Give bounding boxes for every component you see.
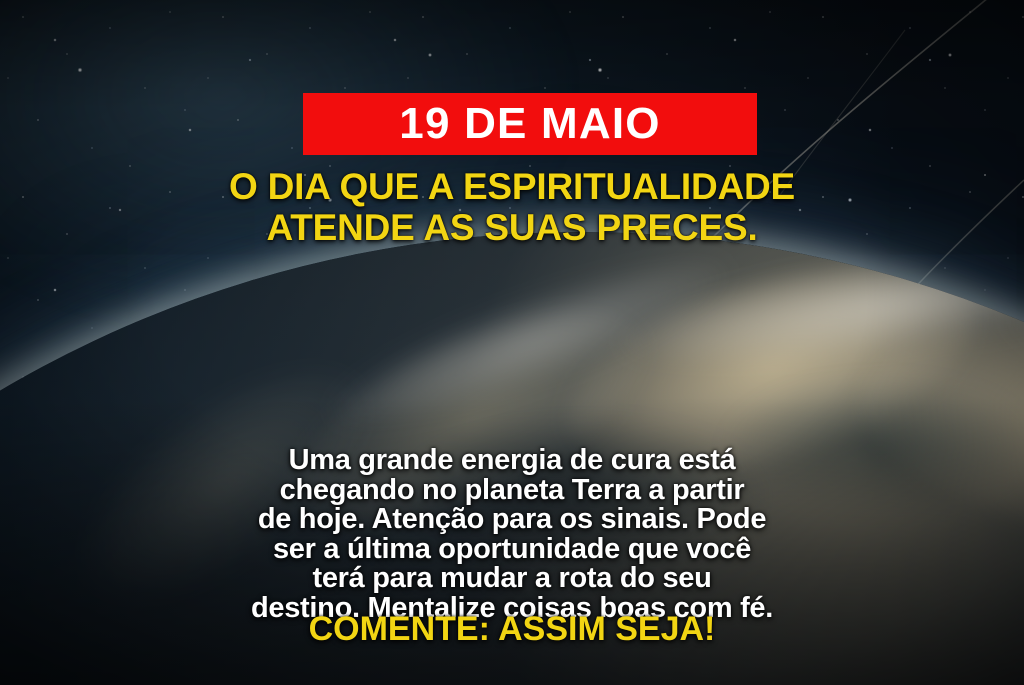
date-banner: 19 DE MAIO bbox=[303, 93, 757, 155]
body-line-4: ser a última oportunidade que você bbox=[44, 535, 980, 565]
date-banner-text: 19 DE MAIO bbox=[399, 102, 660, 146]
headline-line-1: O DIA QUE A ESPIRITUALIDADE bbox=[28, 166, 996, 207]
body-line-3: de hoje. Atenção para os sinais. Pode bbox=[44, 505, 980, 535]
body-line-1: Uma grande energia de cura está bbox=[44, 446, 980, 476]
headline: O DIA QUE A ESPIRITUALIDADE ATENDE AS SU… bbox=[0, 166, 1024, 249]
body-paragraph: Uma grande energia de cura está chegando… bbox=[0, 446, 1024, 623]
headline-line-2: ATENDE AS SUAS PRECES. bbox=[28, 207, 996, 248]
body-line-2: chegando no planeta Terra a partir bbox=[44, 476, 980, 506]
call-to-action-text: COMENTE: ASSIM SEJA! bbox=[0, 612, 1024, 646]
body-line-5: terá para mudar a rota do seu bbox=[44, 564, 980, 594]
poster-canvas: 19 DE MAIO O DIA QUE A ESPIRITUALIDADE A… bbox=[0, 0, 1024, 685]
